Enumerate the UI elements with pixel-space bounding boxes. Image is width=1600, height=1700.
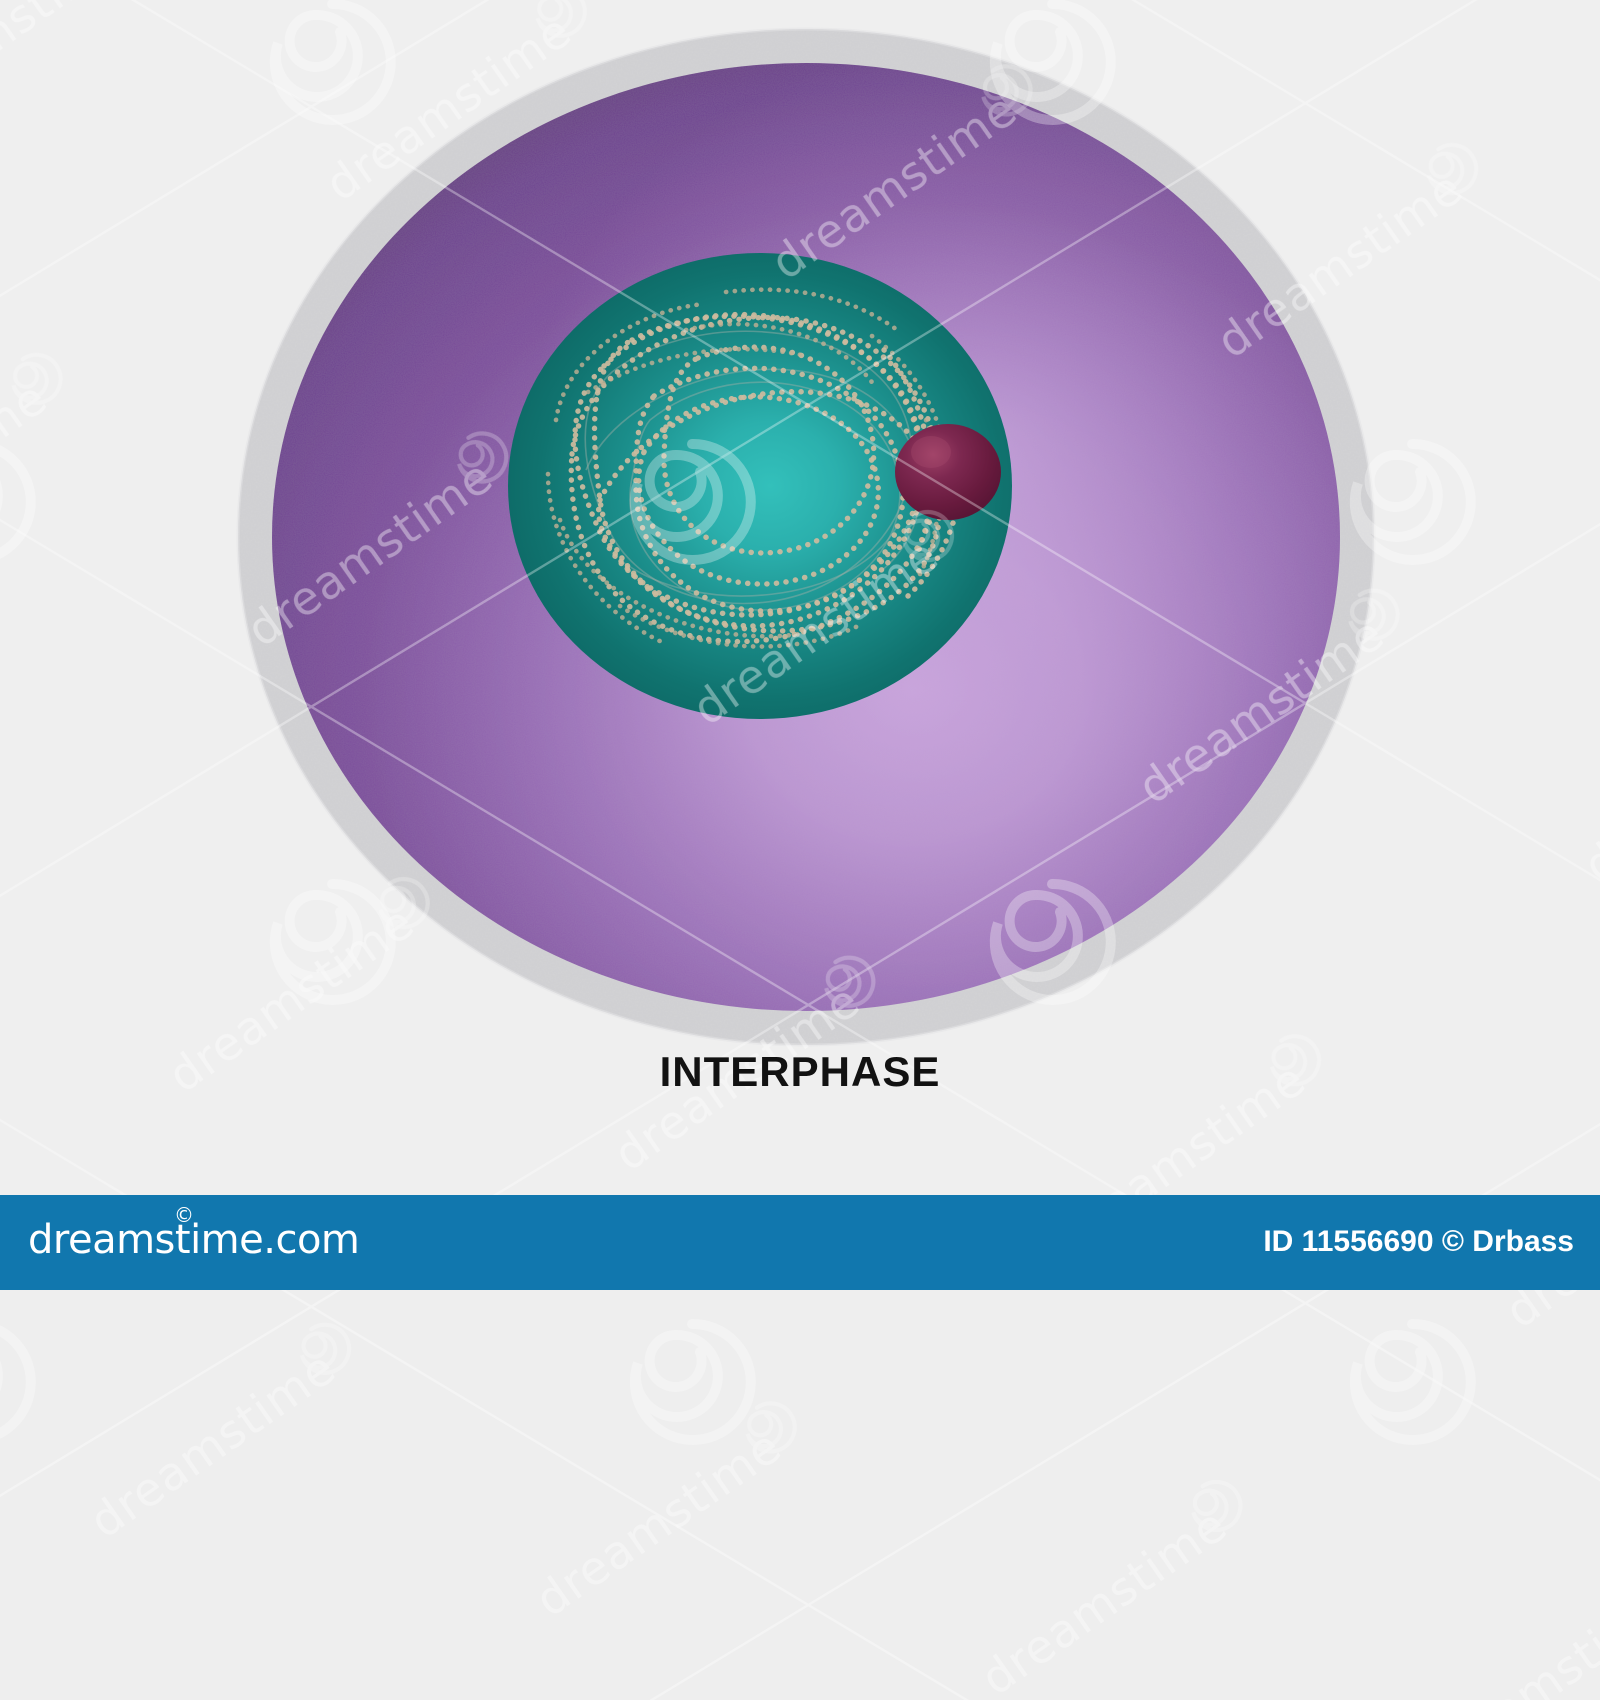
dreamstime-footer-bar: dreamstime.com © ID 11556690 © Drbass [0,1195,1600,1290]
svg-text:dreamstime: dreamstime [1417,1576,1600,1700]
svg-text:dreamstime: dreamstime [971,1498,1236,1700]
nucleolus [895,424,1001,520]
dreamstime-logo-text: dreamstime.com [28,1217,359,1263]
svg-text:dreamstime: dreamstime [526,1419,791,1627]
copyright-mark-icon: © [174,1203,194,1227]
image-id-credit: ID 11556690 © Drbass [1263,1225,1574,1259]
svg-text:dreamstime: dreamstime [80,1340,345,1548]
figure-caption: INTERPHASE [0,1048,1600,1096]
dreamstime-logo[interactable]: dreamstime.com © [28,1217,359,1263]
cell-diagram: .chrom{ fill:none; stroke:#cdbb9e; strok… [0,0,1600,1160]
illustration-stage: .chrom{ fill:none; stroke:#cdbb9e; strok… [0,0,1600,1290]
